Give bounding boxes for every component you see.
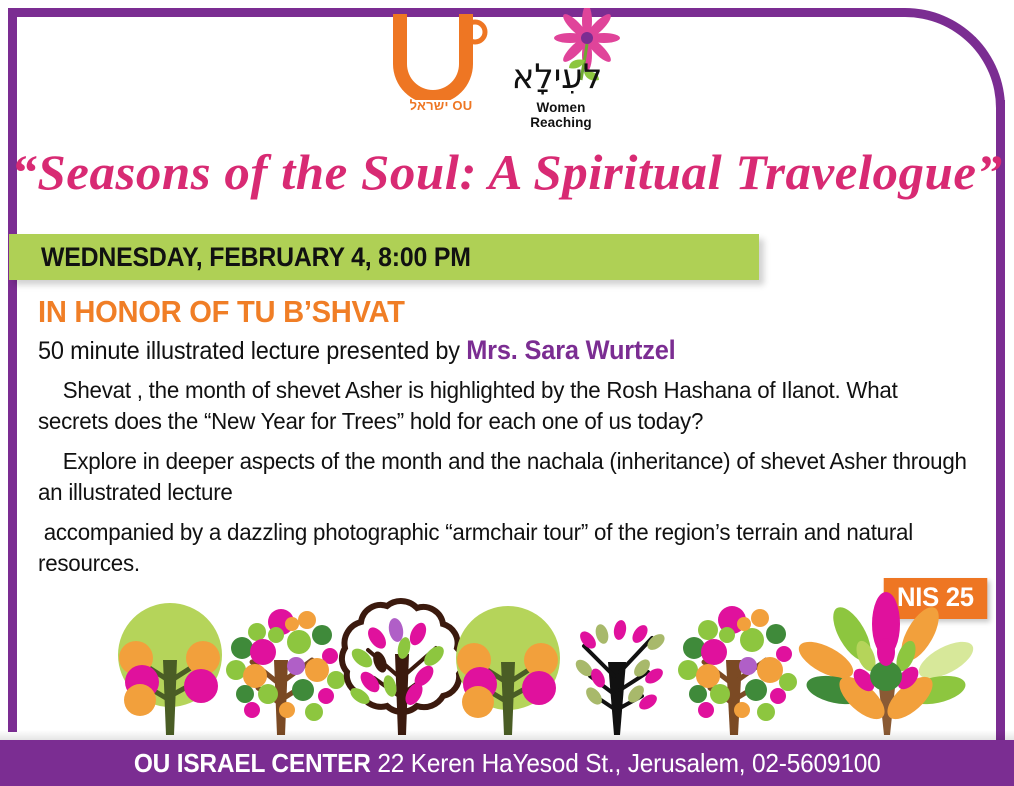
flyer-poster: OU ישראל (0, 0, 1014, 786)
event-body: IN HONOR OF TU B’SHVAT 50 minute illustr… (38, 296, 968, 579)
tree-6-icon (678, 606, 797, 735)
decorative-tree-illustration-strip (0, 590, 1014, 740)
leila-women-reaching-logo: לעִילָא Women Reaching (507, 8, 625, 128)
tree-5-icon (573, 619, 668, 735)
tree-2-icon (226, 609, 345, 735)
footer-address-line: OU ISRAEL CENTER 22 Keren HaYesod St., J… (134, 748, 881, 779)
event-date-banner: WEDNESDAY, FEBRUARY 4, 8:00 PM (9, 234, 759, 280)
presenter-name: Mrs. Sara Wurtzel (466, 335, 675, 365)
ou-u-shape-icon (389, 8, 493, 100)
honor-heading: IN HONOR OF TU B’SHVAT (38, 296, 912, 329)
leila-logo-subtitle: Women Reaching (507, 100, 615, 130)
ou-logo-subtitle: OU ישראל (389, 98, 493, 113)
tree-3-icon (342, 601, 463, 735)
presenter-line: 50 minute illustrated lecture presented … (38, 335, 912, 366)
description-paragraph-1: Shevat , the month of shevet Asher is hi… (38, 375, 969, 437)
presenter-prefix: 50 minute illustrated lecture presented … (38, 337, 466, 365)
event-date-text: WEDNESDAY, FEBRUARY 4, 8:00 PM (41, 242, 471, 273)
page-title: “Seasons of the Soul: A Spiritual Travel… (0, 143, 1014, 201)
tree-row-icon (0, 590, 1014, 740)
footer-address: 22 Keren HaYesod St., Jerusalem, 02-5609… (371, 748, 881, 778)
ou-mark-icon (389, 8, 493, 100)
tree-7-icon (793, 592, 978, 735)
tree-4-icon (456, 606, 560, 735)
description-paragraph-3: accompanied by a dazzling photographic “… (38, 517, 969, 579)
footer-shadow (0, 730, 1014, 740)
footer-venue-name: OU ISRAEL CENTER (134, 748, 371, 778)
footer-bar: OU ISRAEL CENTER 22 Keren HaYesod St., J… (0, 740, 1014, 786)
ou-israel-logo: OU ישראל (389, 8, 493, 126)
leila-hebrew-wordmark: לעִילָא (507, 60, 607, 94)
description-paragraph-2: Explore in deeper aspects of the month a… (38, 446, 969, 508)
header-logos: OU ישראל (0, 8, 1014, 134)
tree-1-icon (118, 603, 222, 735)
